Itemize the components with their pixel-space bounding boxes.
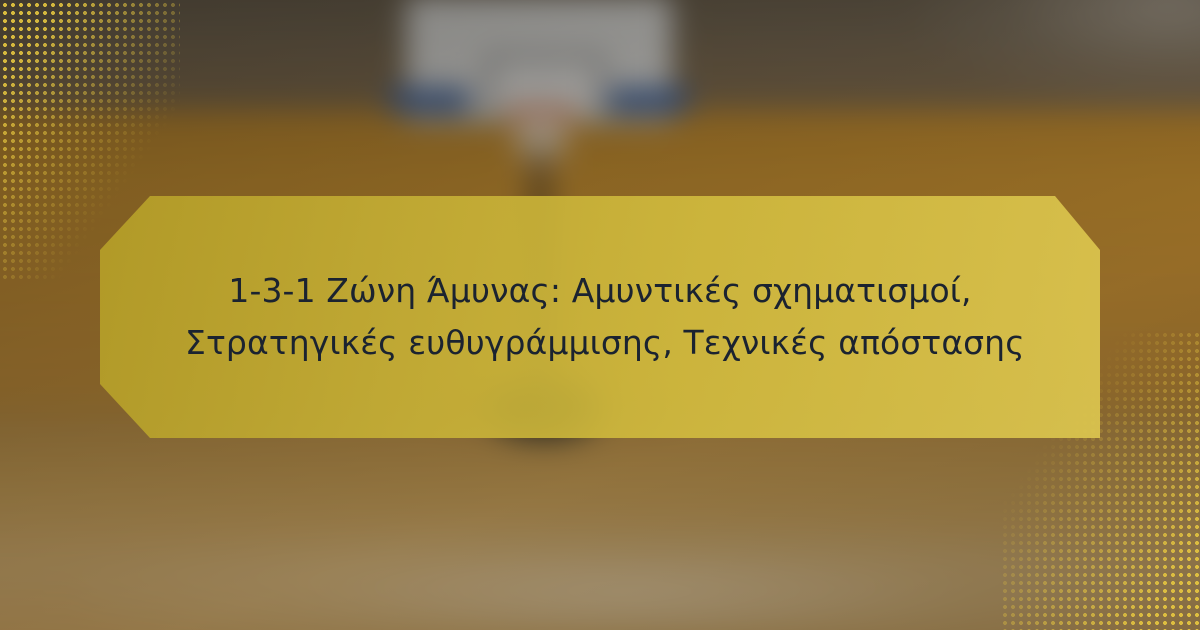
page-title-line-1: 1-3-1 Ζώνη Άμυνας: Αμυντικές σχηματισμοί… (185, 265, 1015, 317)
share-card-canvas: 1-3-1 Ζώνη Άμυνας: Αμυντικές σχηματισμοί… (0, 0, 1200, 630)
page-title: 1-3-1 Ζώνη Άμυνας: Αμυντικές σχηματισμοί… (131, 265, 1069, 369)
title-banner: 1-3-1 Ζώνη Άμυνας: Αμυντικές σχηματισμοί… (100, 196, 1100, 438)
page-title-line-2: Στρατηγικές ευθυγράμμισης, Τεχνικές απόσ… (185, 317, 1015, 369)
